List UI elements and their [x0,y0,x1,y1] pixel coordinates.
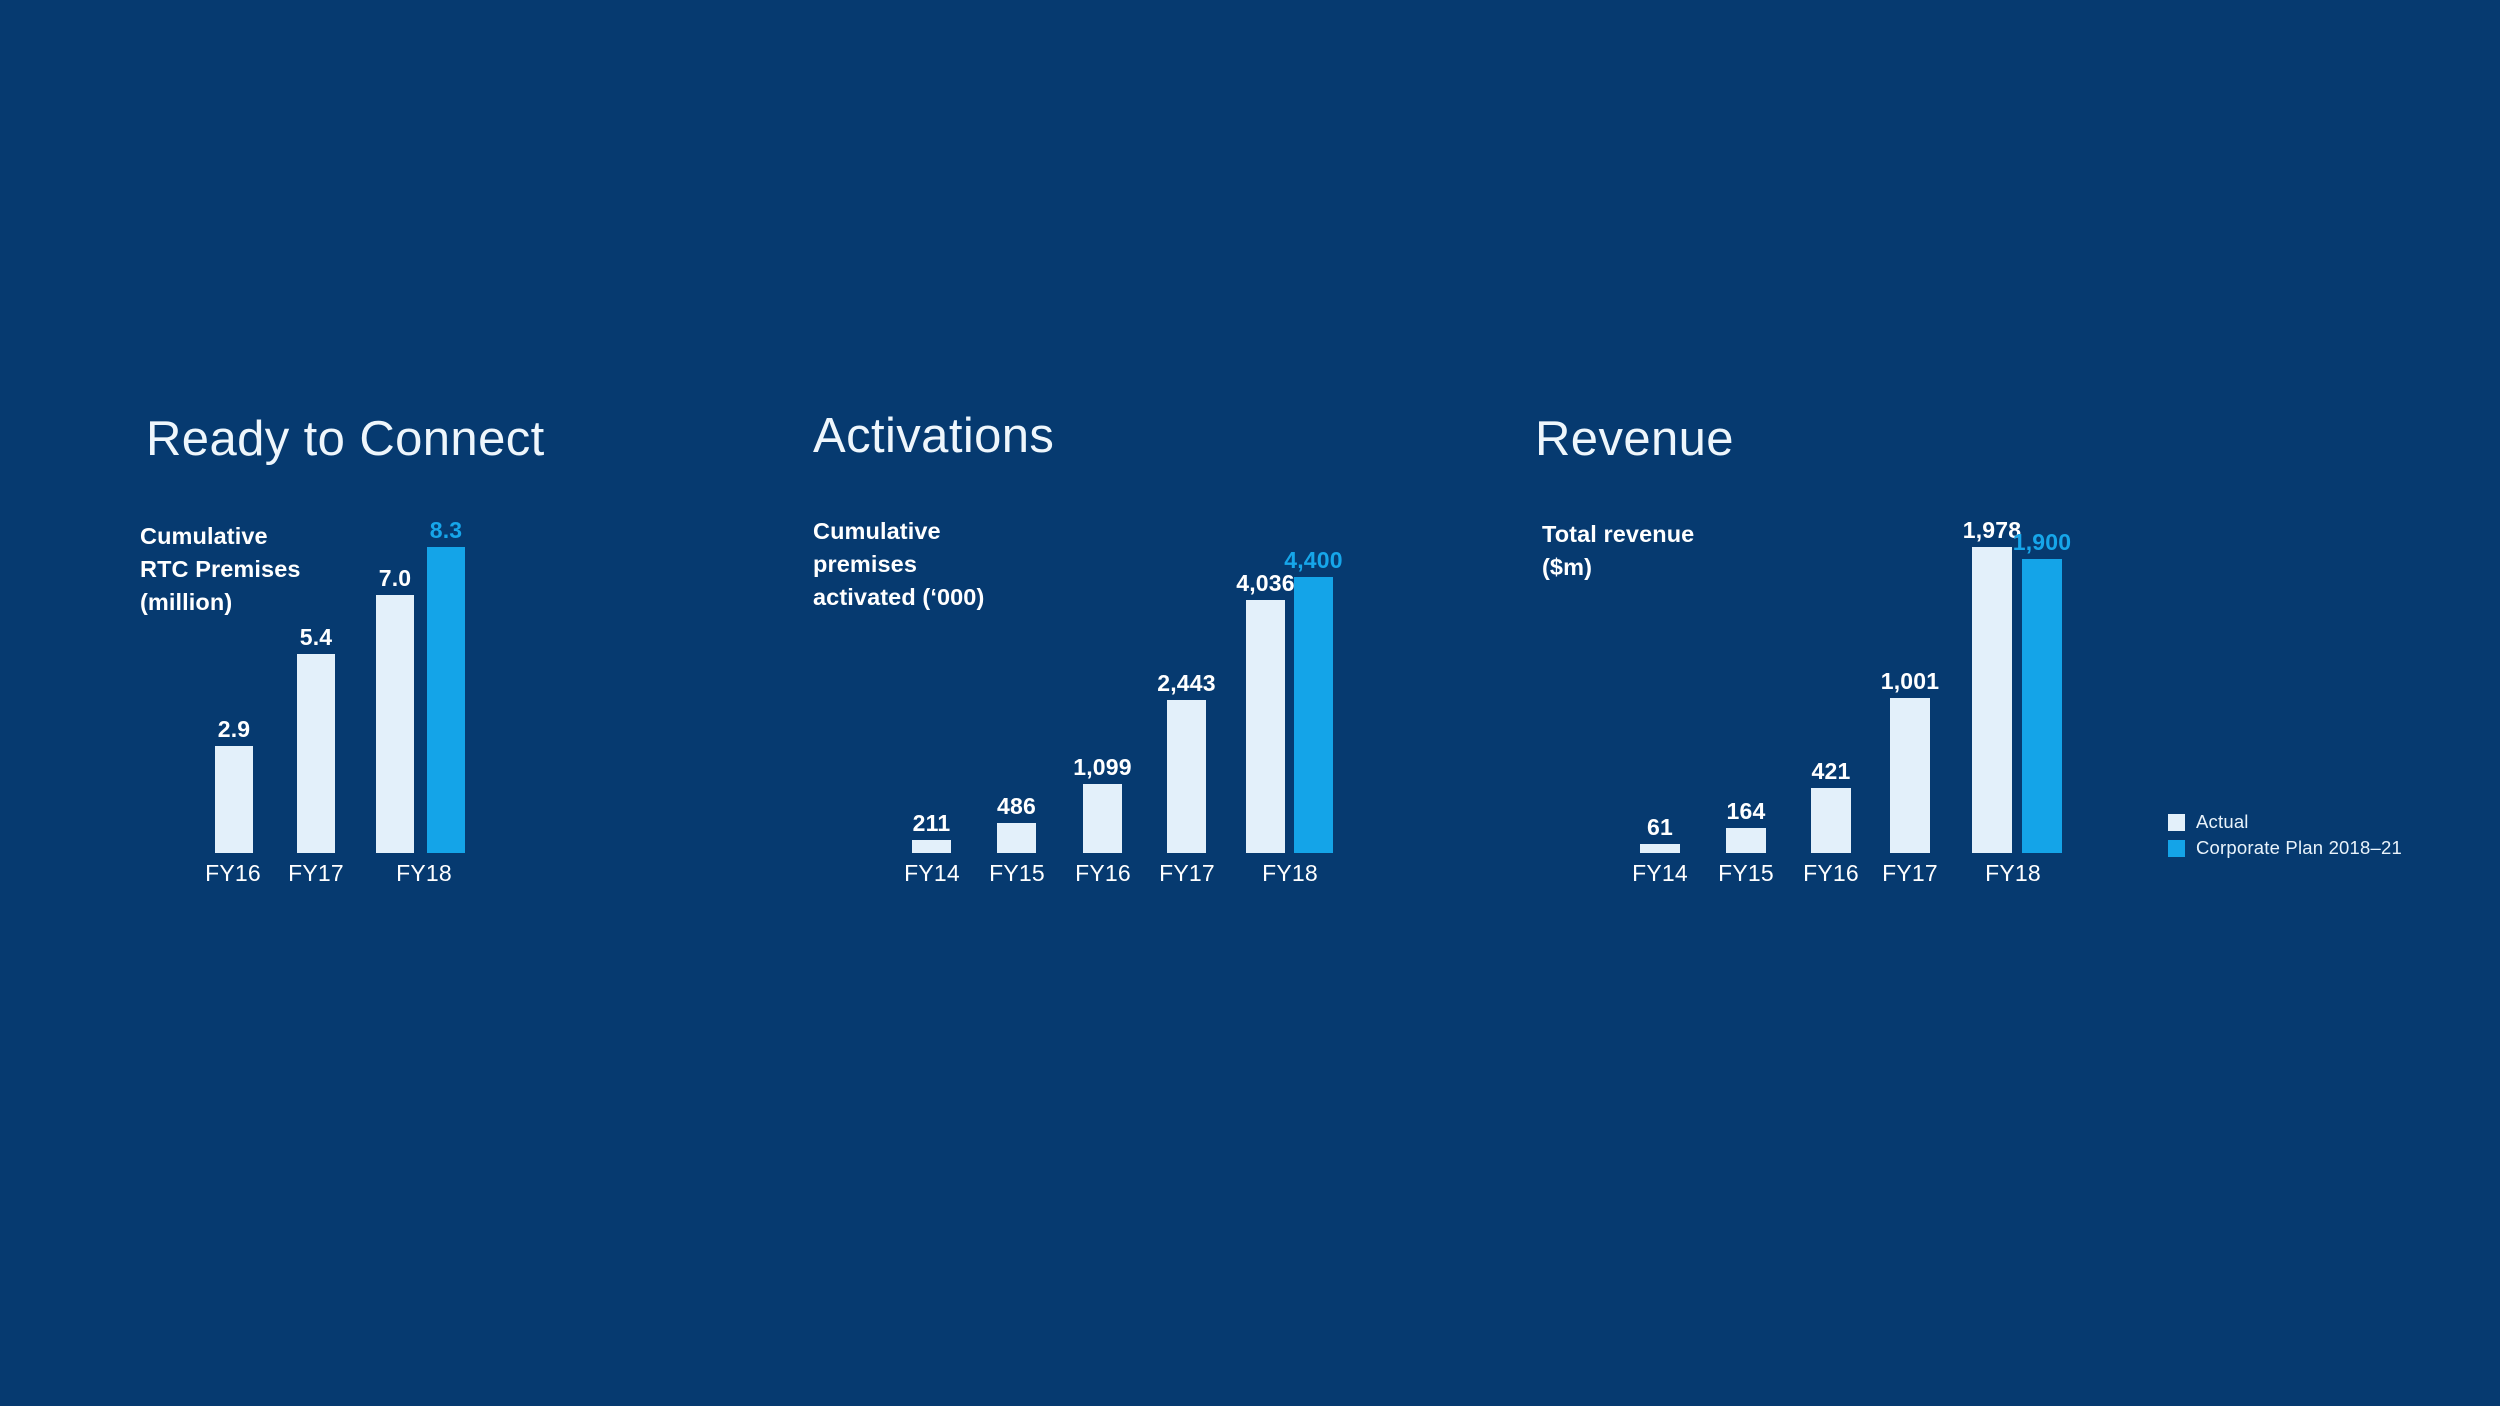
bar-value-label: 2.9 [185,718,283,741]
bar-chart-plot-area: 2.9FY165.4FY177.08.3FY18 [0,0,760,1406]
legend-swatch-icon [2168,840,2185,857]
bar-fy15-actual [997,823,1036,853]
bar-fy18-actual [1972,547,2012,853]
bar-fy18-plan [427,547,465,853]
bar-fy17-actual [1167,700,1206,853]
bar-value-label: 1,900 [1992,531,2092,554]
bar-fy14-actual [912,840,951,853]
bar-fy14-actual [1640,844,1680,853]
legend-item-corporate-plan: Corporate Plan 2018–21 [2168,836,2402,860]
bar-value-label: 61 [1610,816,1710,839]
bar-fy18-plan [2022,559,2062,853]
bar-value-label: 421 [1781,760,1881,783]
bar-chart-plot-area: 61FY14164FY15421FY161,001FY171,9781,900F… [1460,0,2160,1406]
x-axis-label-fy18: FY18 [374,862,474,885]
x-axis-label-fy17: FY17 [1860,862,1960,885]
x-axis-label-fy18: FY18 [1963,862,2063,885]
legend-item-actual: Actual [2168,810,2402,834]
bar-value-label: 2,443 [1137,672,1236,695]
chart-legend: Actual Corporate Plan 2018–21 [2168,810,2402,862]
bar-value-label: 1,099 [1053,756,1152,779]
x-axis-label-fy14: FY14 [1610,862,1710,885]
x-axis-label-fy17: FY17 [1137,862,1237,885]
bar-fy18-plan [1294,577,1333,853]
bar-fy16-actual [1083,784,1122,853]
legend-swatch-icon [2168,814,2185,831]
bar-value-label: 486 [967,795,1066,818]
bar-chart-plot-area: 211FY14486FY151,099FY162,443FY174,0364,4… [760,0,1460,1406]
bar-value-label: 8.3 [397,519,495,542]
bar-fy16-actual [1811,788,1851,853]
bar-fy17-actual [1890,698,1930,853]
x-axis-label-fy15: FY15 [967,862,1067,885]
chart-panel-revenue: Revenue Total revenue ($m) 61FY14164FY15… [1460,0,2160,1406]
slide-canvas: Ready to Connect Cumulative RTC Premises… [0,0,2500,1406]
legend-item-label: Actual [2196,811,2249,833]
bar-fy17-actual [297,654,335,853]
bar-fy15-actual [1726,828,1766,853]
x-axis-label-fy17: FY17 [266,862,366,885]
chart-panel-activations: Activations Cumulative premises activate… [760,0,1460,1406]
x-axis-label-fy18: FY18 [1240,862,1340,885]
bar-value-label: 1,001 [1860,670,1960,693]
bar-value-label: 5.4 [267,626,365,649]
chart-panel-ready-to-connect: Ready to Connect Cumulative RTC Premises… [0,0,760,1406]
bar-value-label: 164 [1696,800,1796,823]
bar-fy18-actual [376,595,414,853]
bar-fy18-actual [1246,600,1285,853]
bar-value-label: 4,400 [1264,549,1363,572]
bar-fy16-actual [215,746,253,853]
legend-item-label: Corporate Plan 2018–21 [2196,837,2402,859]
